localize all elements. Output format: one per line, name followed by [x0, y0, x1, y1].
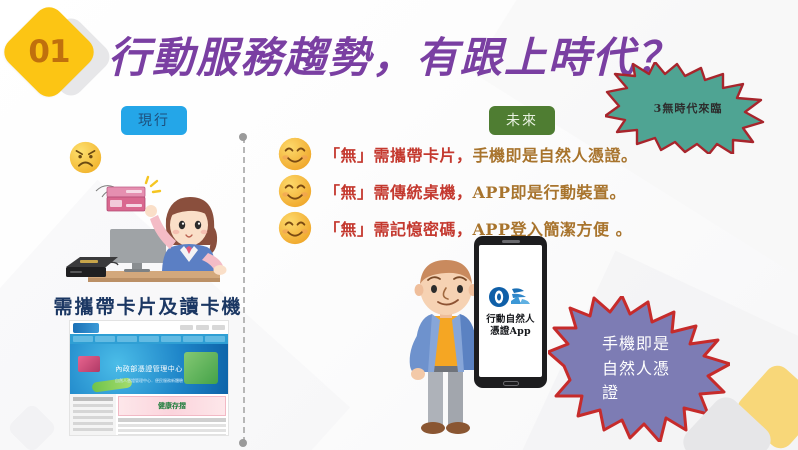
sidebar-link	[73, 422, 113, 425]
app-name-line1: 行動自然人	[486, 314, 535, 326]
sidebar-heading	[73, 397, 113, 401]
left-caption: 需攜帶卡片及讀卡機	[50, 292, 246, 319]
sidebar-link	[73, 410, 113, 413]
smartphone-mockup: 行動自然人 憑證App	[474, 236, 547, 388]
phone-screen: 行動自然人 憑證App	[479, 245, 542, 377]
news-line	[118, 434, 226, 436]
bullet-text-secondary: 手機即是自然人憑證。	[473, 146, 638, 165]
website-banner: 健康存摺	[118, 396, 226, 416]
nav-item	[117, 336, 137, 342]
website-tool	[212, 325, 225, 330]
bullet-text-primary: 「無」需攜帶卡片，	[324, 146, 473, 165]
woman-at-desk-with-card-reader-illustration	[58, 175, 238, 295]
page-title: 行動服務趨勢，有跟上時代？	[108, 24, 680, 85]
bullet-text: 「無」需傳統桌機，APP即是行動裝置。	[324, 179, 626, 203]
website-logo	[73, 323, 99, 333]
bullet-text-secondary: APP即是行動裝置。	[473, 183, 626, 202]
bullet-text-primary: 「無」需記憶密碼，	[324, 220, 473, 239]
purple-starburst-text: 手機即是自然人憑證	[602, 332, 670, 406]
smiley-face-icon	[278, 137, 312, 171]
nav-item	[73, 336, 93, 342]
smiley-face-icon	[278, 174, 312, 208]
sidebar-link	[73, 404, 113, 407]
nav-item	[205, 336, 225, 342]
website-topbar	[70, 321, 228, 334]
vertical-dashed-divider	[243, 137, 245, 443]
hero-subtitle: 自然人憑證管理中心．便民服務新體驗	[70, 378, 228, 384]
website-tool	[196, 325, 209, 330]
banner-text: 健康存摺	[158, 401, 186, 411]
website-tool	[180, 325, 193, 330]
website-toolbar	[180, 325, 225, 330]
nav-item	[161, 336, 181, 342]
hero-title: 內政部憑證管理中心	[115, 364, 183, 374]
nav-item	[139, 336, 159, 342]
bullet-list: 「無」需攜帶卡片，手機即是自然人憑證。 「無」需傳統桌機，APP即是行動裝置。	[278, 136, 788, 247]
bullet-text-primary: 「無」需傳統桌機，	[324, 183, 473, 202]
list-item: 「無」需攜帶卡片，手機即是自然人憑證。	[278, 136, 788, 172]
badge-current: 現行	[121, 106, 187, 135]
sidebar-link	[73, 416, 113, 419]
website-sidebar	[70, 394, 116, 436]
divider-dot-top	[239, 133, 247, 141]
list-item: 「無」需傳統桌機，APP即是行動裝置。	[278, 173, 788, 209]
number-badge-label: 01	[13, 16, 85, 88]
sad-face-icon	[69, 141, 102, 174]
website-body: 健康存摺	[70, 394, 228, 436]
website-nav	[70, 334, 228, 344]
website-news	[118, 418, 226, 436]
moica-website-screenshot: 內政部憑證管理中心 自然人憑證管理中心．便民服務新體驗 健康存摺	[69, 320, 229, 436]
badge-future: 未來	[489, 106, 555, 135]
phone-speaker	[502, 240, 520, 243]
hero-card-art	[78, 356, 100, 372]
natural-person-certificate-logo	[488, 285, 534, 311]
nav-item	[95, 336, 115, 342]
purple-line-3: 證	[602, 383, 619, 402]
purple-line-2: 自然人憑	[602, 359, 670, 378]
bullet-text: 「無」需攜帶卡片，手機即是自然人憑證。	[324, 142, 638, 166]
divider-dot-bottom	[239, 439, 247, 447]
news-line	[118, 429, 226, 432]
nav-item	[183, 336, 203, 342]
slide-canvas: 01 行動服務趨勢，有跟上時代？ 現行 未來 3無時代來臨 「無	[0, 0, 798, 450]
news-heading	[118, 418, 226, 422]
website-main: 健康存摺	[116, 394, 228, 436]
app-name-line2: 憑證App	[490, 326, 531, 338]
news-line	[118, 424, 226, 427]
purple-line-1: 手機即是	[602, 334, 670, 353]
phone-home-button[interactable]	[503, 381, 519, 386]
sidebar-link	[73, 428, 113, 431]
smiley-face-icon	[278, 211, 312, 245]
website-hero: 內政部憑證管理中心 自然人憑證管理中心．便民服務新體驗	[70, 344, 228, 394]
